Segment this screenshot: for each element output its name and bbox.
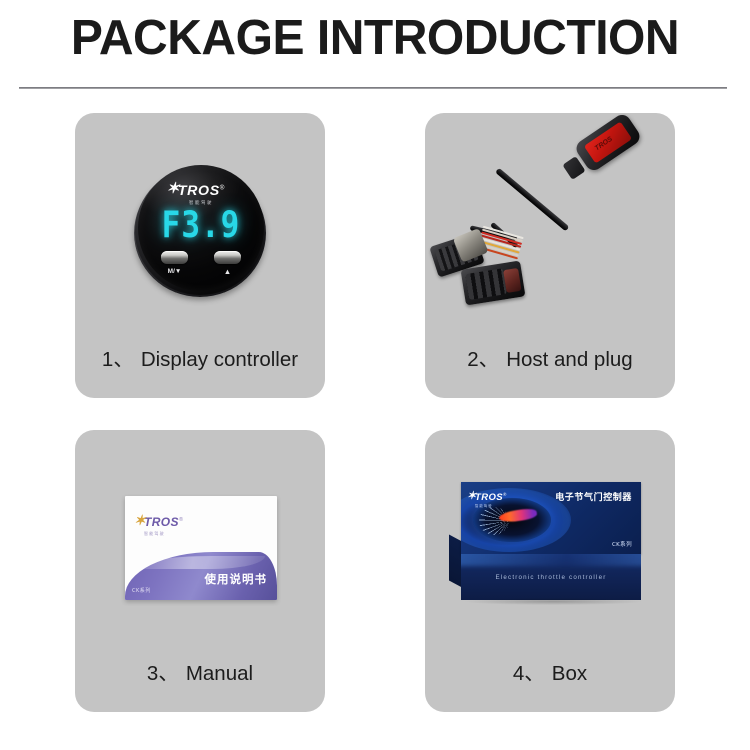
page-header: PACKAGE INTRODUCTION [0, 0, 750, 90]
mode-down-button-label: M/▼ [161, 268, 188, 276]
package-item-box[interactable]: ✶TROS® 智能驾驶 电子节气门控制器 CK系列 Electronic thr… [425, 430, 675, 712]
package-items-grid: ✶TROS® 智能驾驶 F3.9 M/▼ ▲ 1、Display control… [0, 90, 750, 750]
registered-mark: ® [179, 517, 183, 523]
controller-face: ✶TROS® 智能驾驶 F3.9 M/▼ ▲ [138, 165, 264, 291]
box-product-name-cn: 电子节气门控制器 [555, 490, 632, 503]
header-divider [19, 87, 727, 89]
box-drop-shadow [465, 598, 641, 605]
connector-latch [503, 268, 521, 293]
box-top-face: ✶TROS® 智能驾驶 电子节气门控制器 CK系列 [461, 482, 641, 554]
manual-cover-title: 使用说明书 [205, 571, 268, 587]
host-module: TROS [573, 113, 643, 174]
package-item-host-and-plug[interactable]: TROS [425, 113, 675, 398]
item-caption: 2、Host and plug [425, 342, 675, 372]
host-module-brand: TROS [593, 130, 622, 154]
page-title: PACKAGE INTRODUCTION [8, 10, 743, 66]
package-item-display-controller[interactable]: ✶TROS® 智能驾驶 F3.9 M/▼ ▲ 1、Display control… [75, 113, 325, 398]
box-image: ✶TROS® 智能驾驶 电子节气门控制器 CK系列 Electronic thr… [425, 430, 675, 652]
brand-text: TROS [177, 183, 219, 198]
wiring-harness: TROS [425, 113, 675, 335]
item-label: Host and plug [506, 348, 633, 371]
item-number: 1、 [102, 348, 134, 371]
registered-mark: ® [503, 492, 507, 497]
item-label: Manual [186, 662, 253, 685]
manual-wave-highlight [133, 556, 265, 569]
star-icon: ✶ [134, 514, 146, 526]
box-front-sheen [461, 554, 641, 566]
host-module-red-label: TROS [584, 121, 632, 163]
brand-subtitle: 智能驾驶 [475, 505, 507, 508]
brand-subtitle: 智能驾驶 [144, 532, 183, 536]
item-label: Display controller [141, 348, 298, 371]
item-caption: 4、Box [425, 656, 675, 686]
controller-device: ✶TROS® 智能驾驶 F3.9 M/▼ ▲ [134, 165, 266, 297]
display-controller-image: ✶TROS® 智能驾驶 F3.9 M/▼ ▲ [75, 113, 325, 335]
manual-series-label: CK系列 [132, 587, 151, 594]
registered-mark: ® [219, 186, 224, 192]
mode-down-button[interactable] [161, 251, 188, 264]
controller-brand: ✶TROS® 智能驾驶 [138, 183, 264, 205]
item-caption: 3、Manual [75, 656, 325, 686]
star-icon: ✶ [166, 182, 180, 195]
brand-text: TROS [475, 492, 503, 503]
main-cable [495, 168, 569, 232]
item-label: Box [552, 662, 587, 685]
brand-wordmark: ✶TROS® [144, 516, 183, 528]
box-product-name-en: Electronic throttle controller [461, 574, 641, 581]
item-number: 3、 [147, 662, 179, 685]
controller-buttons: M/▼ ▲ [161, 251, 241, 285]
connector-slots [465, 268, 507, 300]
brand-wordmark: ✶TROS® [177, 184, 224, 198]
box-brand: ✶TROS® 智能驾驶 [475, 488, 507, 508]
host-and-plug-image: TROS [425, 113, 675, 335]
product-box: ✶TROS® 智能驾驶 电子节气门控制器 CK系列 Electronic thr… [449, 482, 654, 607]
up-button[interactable] [214, 251, 241, 264]
manual-image: ✶TROS® 智能驾驶 使用说明书 CK系列 [75, 430, 325, 652]
item-caption: 1、Display controller [75, 342, 325, 372]
brand-wordmark: ✶TROS® [475, 493, 507, 503]
item-number: 4、 [513, 662, 545, 685]
item-number: 2、 [467, 348, 499, 371]
box-series-label: CK系列 [612, 540, 632, 548]
brand-text: TROS [144, 515, 179, 529]
manual-wave-graphic: 使用说明书 CK系列 [125, 552, 277, 600]
package-item-manual[interactable]: ✶TROS® 智能驾驶 使用说明书 CK系列 3、Manual [75, 430, 325, 712]
up-button-label: ▲ [214, 268, 241, 276]
led-readout: F3.9 [138, 204, 264, 246]
box-front-face: Electronic throttle controller [461, 554, 641, 600]
manual-booklet: ✶TROS® 智能驾驶 使用说明书 CK系列 [125, 496, 277, 600]
star-icon: ✶ [467, 491, 477, 501]
manual-brand: ✶TROS® 智能驾驶 [144, 514, 183, 536]
plug-connector-female [461, 261, 526, 306]
